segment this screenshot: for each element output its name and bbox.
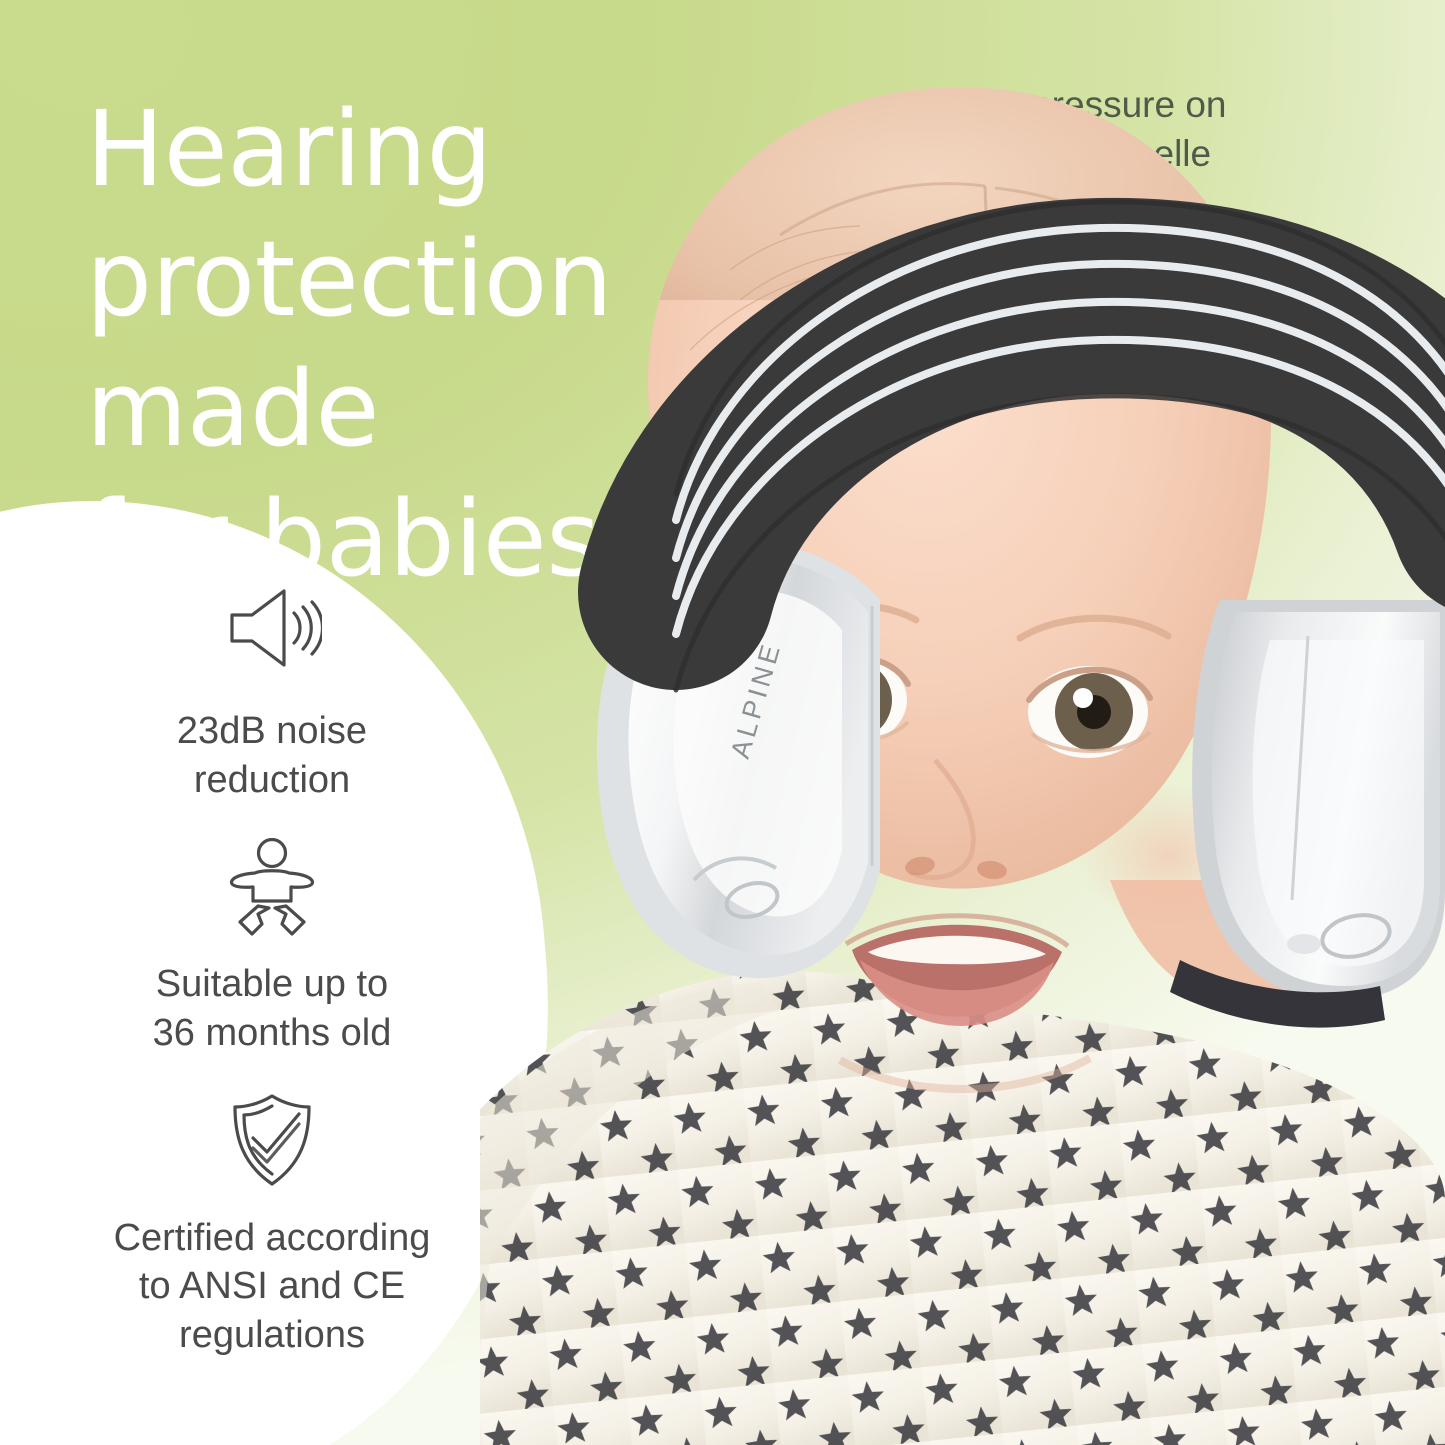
baby-nose [904,760,1008,881]
baby-shirt [480,940,1445,1445]
feature-label: Suitable up to 36 months old [52,960,492,1057]
feature-item-certification: Certified according to ANSI and CE regul… [52,1092,492,1360]
earmuff-cup-left: ALPINE [597,543,880,978]
baby-eyes [768,605,1168,758]
feature-label: 23dB noise reduction [52,707,492,804]
feature-label: Certified according to ANSI and CE regul… [52,1214,492,1360]
speaker-sound-waves-icon [52,585,492,681]
callout-fontanelle-label: No pressure on the fontanelle [930,80,1270,178]
feature-list: 23dB noise reduction Suitable up to 36 m… [52,585,492,1393]
baby-figure-icon [52,838,492,934]
earmuff-cup-right [1192,600,1445,1000]
baby-mouth [846,916,1068,1026]
headband-tail [1170,960,1385,1028]
page-title: Hearing protection made for babies [86,84,916,604]
product-feature-poster: ALPINE [0,0,1445,1445]
baby-neck [1110,880,1385,1012]
shield-check-icon [52,1092,492,1188]
dashed-pointer-line [1105,196,1111,288]
feature-item-noise-reduction: 23dB noise reduction [52,585,492,804]
brand-label: ALPINE [725,638,787,762]
feature-item-age-range: Suitable up to 36 months old [52,838,492,1057]
